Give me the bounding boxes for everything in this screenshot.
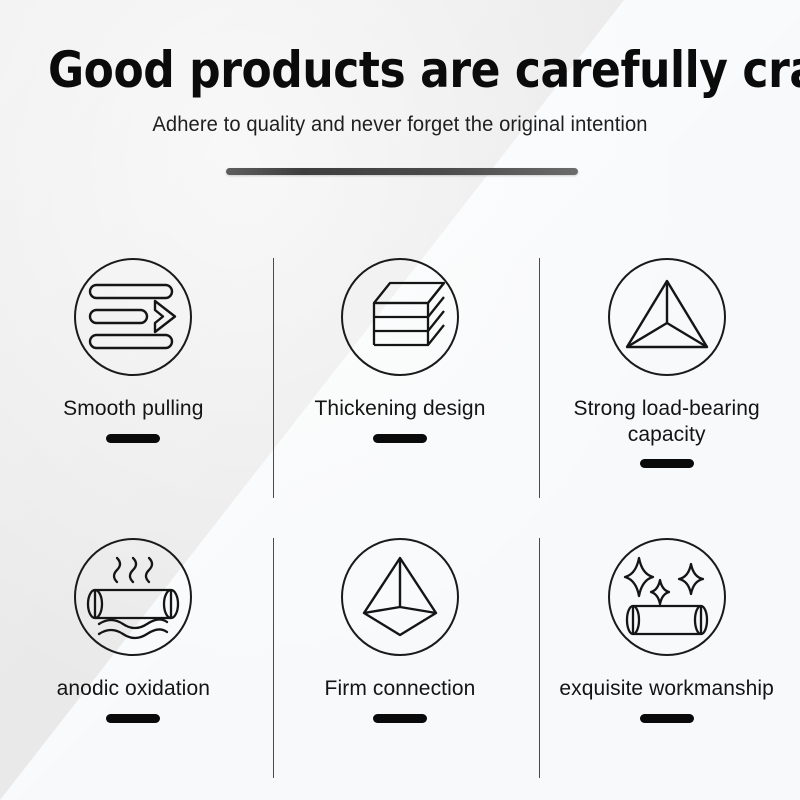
pyramid-icon bbox=[341, 538, 459, 656]
heated-cylinder-waves-icon bbox=[74, 538, 192, 656]
header: Good products are carefully crafted Adhe… bbox=[0, 0, 800, 137]
feature-cell-firm-connection: Firm connection bbox=[267, 520, 534, 800]
feature-label: anodic oxidation bbox=[57, 676, 210, 702]
stacked-layers-icon bbox=[341, 258, 459, 376]
feature-label: Thickening design bbox=[315, 396, 486, 422]
feature-cell-exquisite-workmanship: exquisite workmanship bbox=[533, 520, 800, 800]
page-title: Good products are carefully crafted bbox=[48, 44, 752, 97]
feature-underline bbox=[106, 434, 160, 443]
feature-underline bbox=[106, 714, 160, 723]
poster-canvas: Good products are carefully crafted Adhe… bbox=[0, 0, 800, 800]
feature-label: Firm connection bbox=[325, 676, 476, 702]
feature-underline bbox=[373, 434, 427, 443]
feature-label: Smooth pulling bbox=[63, 396, 203, 422]
header-divider-bar bbox=[226, 168, 578, 175]
feature-grid: Smooth pulling bbox=[0, 240, 800, 800]
feature-label: exquisite workmanship bbox=[559, 676, 774, 702]
sparkling-cylinder-icon bbox=[608, 538, 726, 656]
feature-cell-anodic-oxidation: anodic oxidation bbox=[0, 520, 267, 800]
feature-underline bbox=[373, 714, 427, 723]
page-subtitle: Adhere to quality and never forget the o… bbox=[16, 113, 784, 137]
tetrahedron-triangle-icon bbox=[608, 258, 726, 376]
sliding-bars-arrow-icon bbox=[74, 258, 192, 376]
feature-underline bbox=[640, 714, 694, 723]
feature-label: Strong load-bearing capacity bbox=[544, 396, 789, 447]
feature-cell-load-bearing: Strong load-bearing capacity bbox=[533, 240, 800, 520]
feature-underline bbox=[640, 459, 694, 468]
feature-cell-smooth-pulling: Smooth pulling bbox=[0, 240, 267, 520]
feature-cell-thickening-design: Thickening design bbox=[267, 240, 534, 520]
